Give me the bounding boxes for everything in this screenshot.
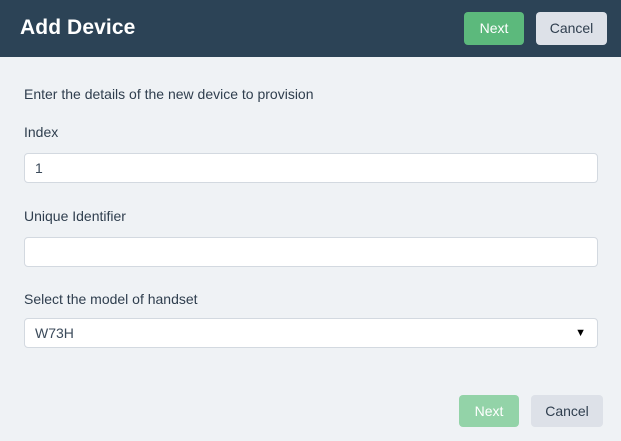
index-input[interactable] xyxy=(24,153,598,183)
index-field-label: Index xyxy=(24,123,58,141)
form-body: Enter the details of the new device to p… xyxy=(0,57,621,441)
footer-next-button[interactable]: Next xyxy=(459,395,519,427)
header-next-button[interactable]: Next xyxy=(464,12,524,45)
form-intro-text: Enter the details of the new device to p… xyxy=(24,85,314,103)
handset-model-field-label: Select the model of handset xyxy=(24,290,198,308)
page-header: Add Device Next Cancel xyxy=(0,0,621,57)
add-device-page: Add Device Next Cancel Enter the details… xyxy=(0,0,621,441)
header-cancel-button[interactable]: Cancel xyxy=(536,12,607,45)
handset-model-select[interactable]: W73H ▼ xyxy=(24,318,598,348)
handset-model-select-box[interactable] xyxy=(24,318,598,348)
unique-identifier-input[interactable] xyxy=(24,237,598,267)
page-title: Add Device xyxy=(20,14,135,42)
footer-cancel-button[interactable]: Cancel xyxy=(531,395,603,427)
handset-model-selected-value: W73H xyxy=(35,318,74,348)
chevron-down-icon: ▼ xyxy=(575,318,586,348)
unique-identifier-field-label: Unique Identifier xyxy=(24,207,126,225)
